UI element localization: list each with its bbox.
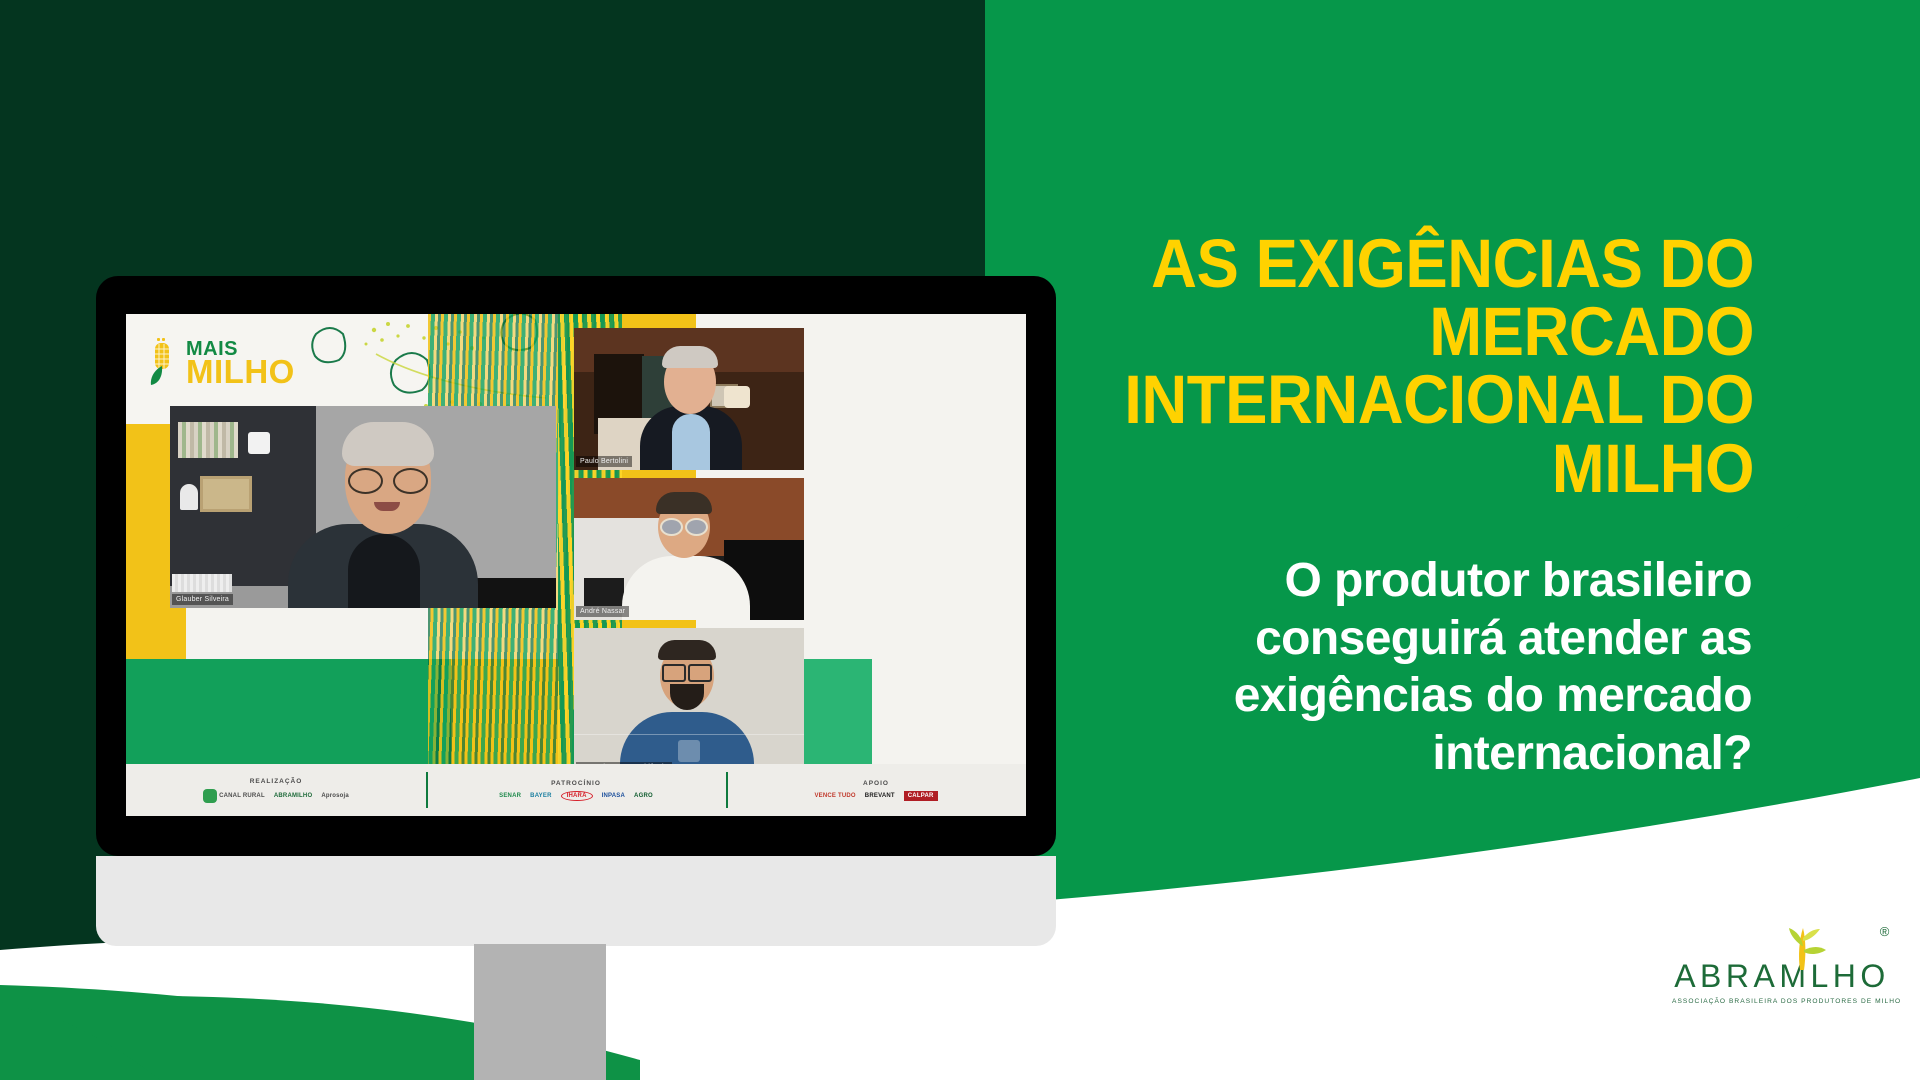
registered-trademark-icon: ®: [1880, 924, 1894, 939]
sponsor-bar: REALIZAÇÃO CANAL RURAL ABRAMILHO Aprosoj…: [126, 764, 1026, 816]
video-tile-participant-3[interactable]: Aprosoja MS - Presidência: [574, 628, 804, 776]
participant-name-1: Paulo Bertolini: [576, 456, 632, 467]
subtitle-question: O produtor brasileiro conseguirá atender…: [1000, 552, 1752, 782]
sponsor-logo-senar: SENAR: [499, 793, 521, 799]
participant-name-2: André Nassar: [576, 606, 629, 617]
subtitle-block: O produtor brasileiro conseguirá atender…: [1000, 552, 1810, 782]
sponsor-logo-ihara: IHARA: [561, 791, 593, 801]
abramilho-logo: ABRAMLHO ® ASSOCIAÇÃO BRASILEIRA DOS PRO…: [1672, 958, 1892, 1005]
p1-hair: [662, 346, 718, 368]
p3-shirt-logo: [678, 740, 700, 762]
p3-hair: [658, 640, 716, 660]
p3-divider-line: [574, 734, 804, 735]
title-panel: AS EXIGÊNCIAS DO MERCADO INTERNACIONAL D…: [985, 0, 1812, 537]
sponsor-logo-group: VENCE TUDO BREVANT CALPAR: [814, 791, 937, 801]
canal-rural-mark: [203, 789, 217, 803]
sponsor-section-title: APOIO: [863, 780, 889, 787]
abramilho-wordmark: ABRAMLHO ®: [1674, 958, 1890, 995]
mais-milho-logo: MAIS MILHO: [148, 336, 295, 390]
sponsor-logo-group: SENAR BAYER IHARA INPASA AGRO: [499, 791, 653, 801]
shelf-mug: [248, 432, 270, 454]
shelf-photo-frame: [200, 476, 252, 512]
sponsor-logo-agro: AGRO: [634, 793, 653, 799]
sponsor-logo-canal-rural: CANAL RURAL: [203, 789, 265, 803]
speaker-glasses-icon: [348, 468, 428, 490]
monitor-screen: MAIS MILHO: [126, 314, 1026, 816]
sponsor-logo-brevant: BREVANT: [865, 793, 895, 799]
corn-cob-icon: [148, 336, 178, 390]
participant-name-main: Glauber Silveira: [172, 594, 233, 605]
sponsor-section-patrocinio: PATROCÍNIO SENAR BAYER IHARA INPASA AGRO: [426, 764, 726, 816]
video-tile-main-speaker[interactable]: Glauber Silveira: [170, 406, 556, 608]
mais-milho-wordmark: MAIS MILHO: [186, 341, 295, 384]
p1-shirt: [672, 414, 710, 470]
p2-hair: [656, 492, 712, 514]
slide-block-green-bottom: [126, 659, 456, 774]
monitor-stand-neck: [474, 944, 606, 1080]
page-title: AS EXIGÊNCIAS DO MERCADO INTERNACIONAL D…: [1083, 230, 1754, 503]
p1-lamp: [724, 386, 750, 408]
video-tile-column: Paulo Bertolini André Nassar: [574, 328, 804, 776]
corn-plant-icon: [1780, 926, 1826, 970]
shelf-books: [178, 422, 238, 458]
webinar-slide: MAIS MILHO: [126, 314, 1026, 816]
speaker-shirt: [348, 534, 420, 608]
sponsor-logo-vence-tudo: VENCE TUDO: [814, 793, 855, 799]
shelf-notebook: [172, 574, 232, 592]
p2-glasses-icon: [660, 518, 708, 532]
sponsor-logo-calpar: CALPAR: [904, 791, 938, 801]
video-tile-participant-1[interactable]: Paulo Bertolini: [574, 328, 804, 470]
sponsor-section-realizacao: REALIZAÇÃO CANAL RURAL ABRAMILHO Aprosoj…: [126, 764, 426, 816]
desktop-monitor: MAIS MILHO: [96, 276, 1056, 856]
monitor-chin: [96, 856, 1056, 946]
sponsor-logo-group: CANAL RURAL ABRAMILHO Aprosoja: [203, 789, 349, 803]
speaker-hair: [342, 422, 434, 466]
shelf-lamp: [180, 484, 198, 510]
sponsor-section-title: PATROCÍNIO: [551, 780, 601, 787]
p2-monitor: [584, 578, 624, 606]
abramilho-tagline: ASSOCIAÇÃO BRASILEIRA DOS PRODUTORES DE …: [1672, 998, 1892, 1005]
logo-word-milho: MILHO: [186, 358, 295, 385]
sponsor-section-apoio: APOIO VENCE TUDO BREVANT CALPAR: [726, 764, 1026, 816]
slide-canvas: AS EXIGÊNCIAS DO MERCADO INTERNACIONAL D…: [0, 0, 1920, 1080]
sponsor-logo-inpasa: INPASA: [602, 793, 625, 799]
sponsor-logo-abramilho: ABRAMILHO: [274, 793, 312, 799]
sponsor-logo-bayer: BAYER: [530, 793, 551, 799]
video-tile-participant-2[interactable]: André Nassar: [574, 478, 804, 620]
p3-glasses-icon: [662, 664, 712, 678]
sponsor-logo-aprosoja: Aprosoja: [321, 793, 349, 799]
sponsor-section-title: REALIZAÇÃO: [250, 778, 303, 785]
